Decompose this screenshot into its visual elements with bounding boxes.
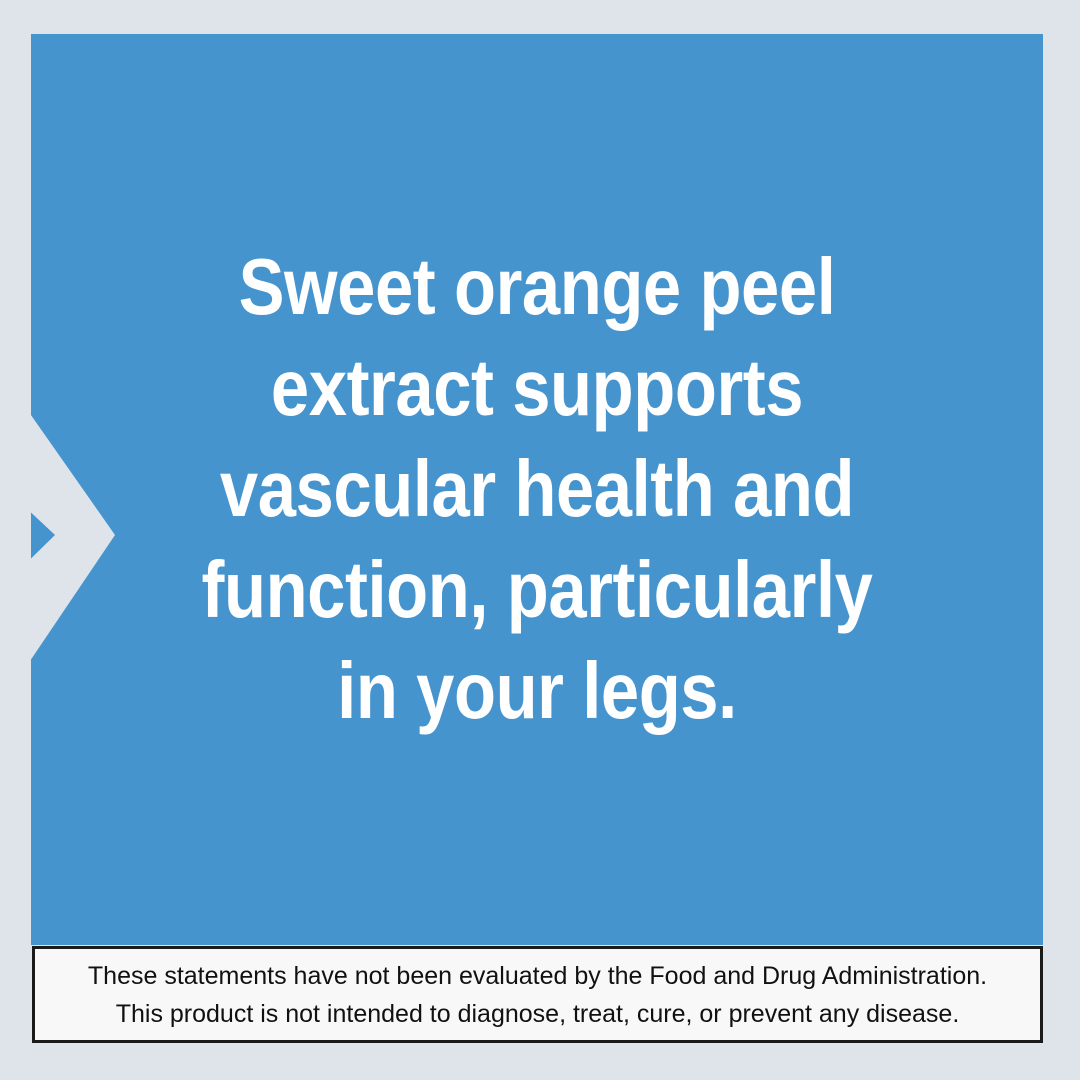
disclaimer-line-1: These statements have not been evaluated… [88,957,987,995]
claim-card: Sweet orange peel extract supports vascu… [0,0,1080,1080]
page-title: Sweet orange peel extract supports vascu… [102,236,972,741]
fda-disclaimer-box: These statements have not been evaluated… [32,946,1043,1043]
disclaimer-line-2: This product is not intended to diagnose… [116,995,960,1033]
